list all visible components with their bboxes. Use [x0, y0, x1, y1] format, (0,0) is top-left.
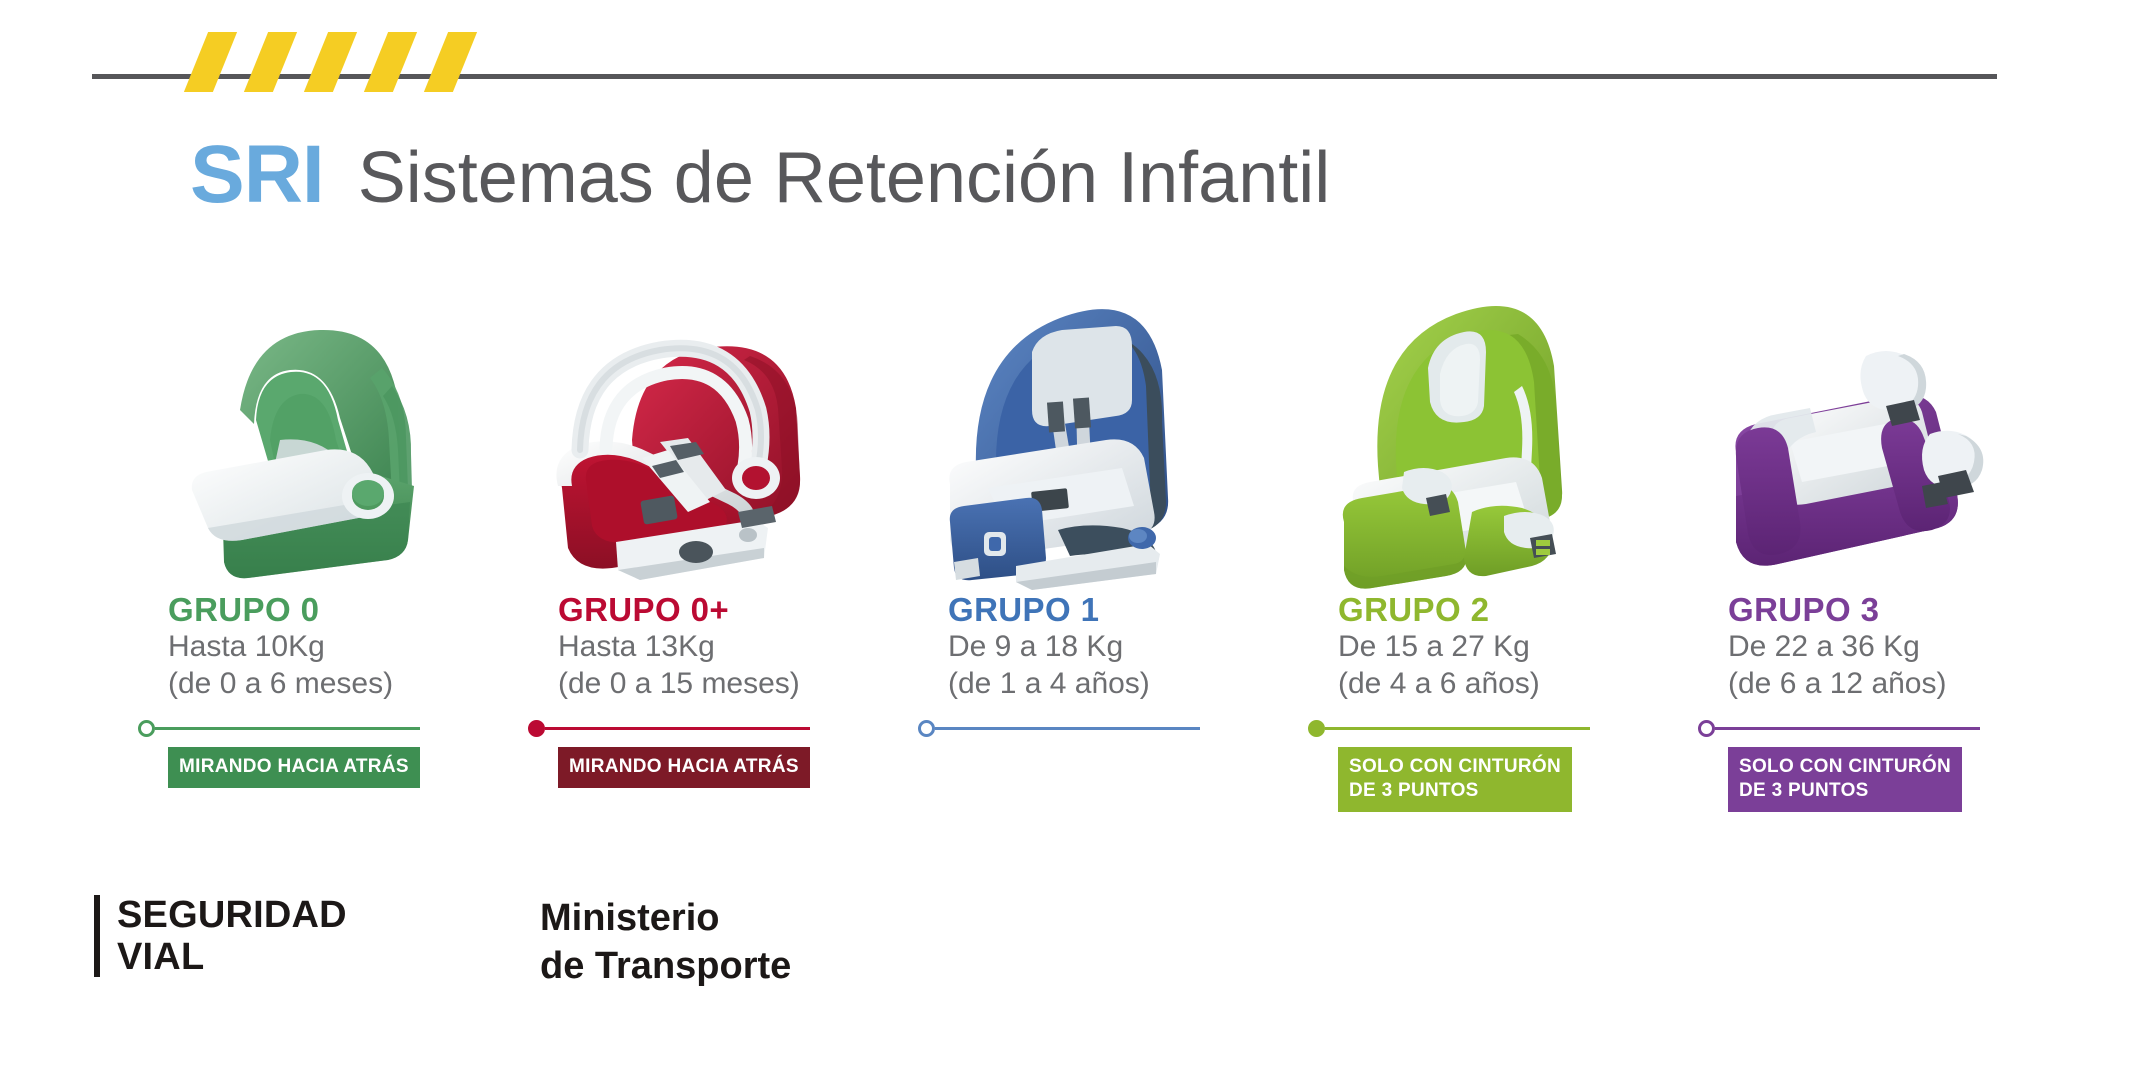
group-age: (de 4 a 6 años)	[1338, 665, 1685, 702]
group-card-grupo-1: GRUPO 1 De 9 a 18 Kg (de 1 a 4 años)	[910, 275, 1295, 741]
seat-illustration-infant-carrier	[520, 275, 905, 590]
group-age: (de 1 a 4 años)	[948, 665, 1295, 702]
group-weight: De 9 a 18 Kg	[948, 628, 1295, 665]
logo-bar	[94, 895, 100, 977]
group-marker	[1698, 717, 2075, 741]
group-weight: De 15 a 27 Kg	[1338, 628, 1685, 665]
infographic-canvas: SRI Sistemas de Retención Infantil	[0, 0, 2133, 1067]
group-title: GRUPO 0	[168, 592, 515, 628]
group-card-grupo-0-plus: GRUPO 0+ Hasta 13Kg (de 0 a 15 meses) MI…	[520, 275, 905, 788]
group-marker	[528, 717, 905, 741]
group-weight: Hasta 10Kg	[168, 628, 515, 665]
marker-line	[545, 727, 810, 730]
marker-dot-icon	[1308, 720, 1325, 737]
marker-dot-icon	[138, 720, 155, 737]
group-card-grupo-3: GRUPO 3 De 22 a 36 Kg (de 6 a 12 años) S…	[1690, 275, 2075, 812]
marker-line	[1325, 727, 1590, 730]
group-marker	[918, 717, 1295, 741]
group-age: (de 0 a 15 meses)	[558, 665, 905, 702]
group-card-grupo-2: GRUPO 2 De 15 a 27 Kg (de 4 a 6 años) SO…	[1300, 275, 1685, 812]
group-title: GRUPO 1	[948, 592, 1295, 628]
group-age: (de 6 a 12 años)	[1728, 665, 2075, 702]
group-card-grupo-0: GRUPO 0 Hasta 10Kg (de 0 a 6 meses) MIRA…	[130, 275, 515, 788]
group-badge: SOLO CON CINTURÓN DE 3 PUNTOS	[1338, 747, 1572, 813]
hatch-marks-icon	[196, 32, 466, 92]
group-badge: MIRANDO HACIA ATRÁS	[168, 747, 420, 788]
group-title: GRUPO 0+	[558, 592, 905, 628]
group-age: (de 0 a 6 meses)	[168, 665, 515, 702]
group-badge: MIRANDO HACIA ATRÁS	[558, 747, 810, 788]
ministerio-transporte-logo: Ministerio de Transporte	[540, 895, 791, 990]
seat-illustration-highback-booster	[1300, 275, 1685, 590]
marker-dot-icon	[1698, 720, 1715, 737]
marker-line	[1715, 727, 1980, 730]
group-marker	[1308, 717, 1685, 741]
seat-illustration-toddler-seat	[910, 275, 1295, 590]
groups-container: GRUPO 0 Hasta 10Kg (de 0 a 6 meses) MIRA…	[0, 275, 2133, 855]
seat-illustration-booster-cushion	[1690, 275, 2075, 590]
marker-dot-icon	[918, 720, 935, 737]
group-title: GRUPO 2	[1338, 592, 1685, 628]
brand-acronym: SRI	[190, 134, 324, 216]
group-weight: De 22 a 36 Kg	[1728, 628, 2075, 665]
seat-illustration-carrycot	[130, 275, 515, 590]
marker-dot-icon	[528, 720, 545, 737]
group-weight: Hasta 13Kg	[558, 628, 905, 665]
marker-line	[155, 727, 420, 730]
page-title: SRI Sistemas de Retención Infantil	[190, 134, 1330, 216]
title-text: Sistemas de Retención Infantil	[358, 142, 1331, 214]
group-title: GRUPO 3	[1728, 592, 2075, 628]
seguridad-vial-text: SEGURIDAD VIAL	[117, 895, 347, 979]
marker-line	[935, 727, 1200, 730]
group-marker	[138, 717, 515, 741]
group-badge: SOLO CON CINTURÓN DE 3 PUNTOS	[1728, 747, 1962, 813]
seguridad-vial-logo: SEGURIDAD VIAL	[94, 895, 347, 979]
